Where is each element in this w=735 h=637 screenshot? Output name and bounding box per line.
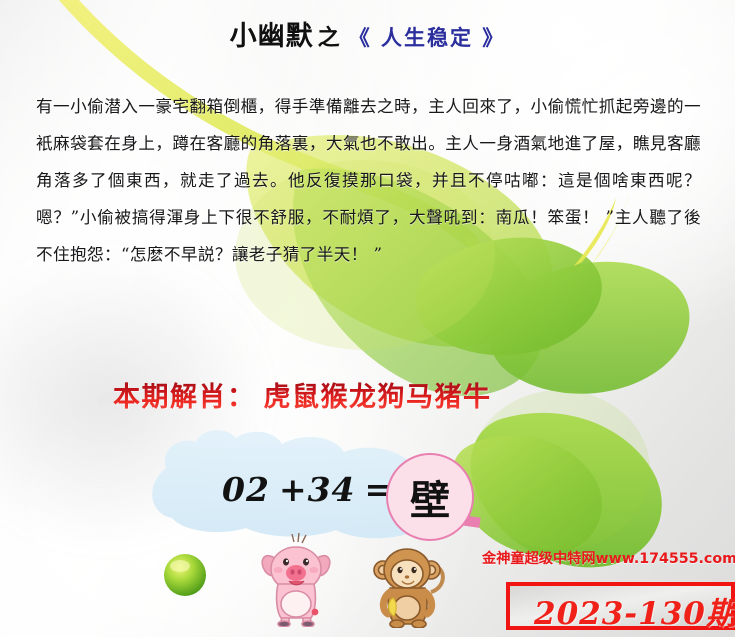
green-orb-icon <box>162 552 208 598</box>
equation: 02+34= <box>222 470 402 509</box>
pig-cartoon-icon <box>253 532 339 627</box>
equation-operator: +34 <box>279 470 356 509</box>
answer-character: 壁 <box>386 453 474 541</box>
site-watermark: 金神童超级中特网www.174555.com <box>482 548 735 568</box>
title-main-text: 小幽默 <box>230 21 314 52</box>
monkey-cartoon-icon <box>369 540 447 628</box>
lottery-poster: 小幽默之《 人生稳定 》 有一小偷潜入一豪宅翻箱倒櫃，得手準備離去之時，主人回來… <box>0 0 735 637</box>
poster-title: 小幽默之《 人生稳定 》 <box>0 14 735 53</box>
equation-operand-a: 02 <box>222 470 270 509</box>
story-paragraph: 有一小偷潜入一豪宅翻箱倒櫃，得手準備離去之時，主人回來了，小偷慌忙抓起旁邊的一衹… <box>36 88 701 273</box>
hint-label: 本期解肖： <box>113 382 256 413</box>
issue-number: 2023-130期 <box>534 588 735 633</box>
title-connector-text: 之 <box>318 26 340 51</box>
hint-value: 虎鼠猴龙狗马猪牛 <box>264 382 492 413</box>
title-subtitle-text: 《 人生稳定 》 <box>349 26 506 50</box>
hint-line: 本期解肖：虎鼠猴龙狗马猪牛 <box>113 375 492 414</box>
